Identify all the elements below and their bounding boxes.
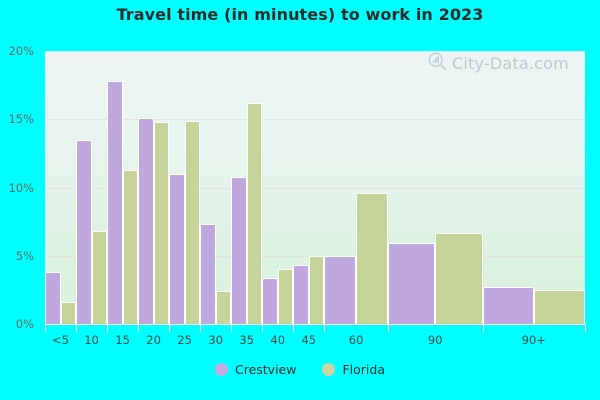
y-axis-label: 10% [8, 181, 34, 195]
x-axis-tick [388, 324, 389, 332]
bar-crestview-25 [169, 174, 185, 324]
bar-florida-60 [356, 193, 388, 324]
x-axis-label: 60 [349, 333, 364, 347]
bar-florida-90 [435, 233, 482, 324]
x-axis-tick [45, 324, 46, 332]
bar-crestview-90+ [483, 287, 534, 324]
x-axis-tick [324, 324, 325, 332]
bar-florida-15 [123, 170, 139, 324]
x-axis-line [45, 324, 586, 325]
x-axis-tick [76, 324, 77, 332]
x-axis-label: 15 [115, 333, 130, 347]
bar-florida-40 [278, 269, 294, 324]
y-axis-label: 0% [16, 317, 34, 331]
legend-label-florida: Florida [342, 362, 385, 377]
bar-crestview-60 [324, 256, 356, 324]
x-axis-tick [138, 324, 139, 332]
travel-time-bar-chart: Travel time (in minutes) to work in 2023… [0, 0, 600, 400]
bar-crestview-10 [76, 140, 92, 324]
bar-florida-25 [185, 121, 201, 324]
gridline [45, 51, 585, 52]
x-axis-tick [169, 324, 170, 332]
chart-title: Travel time (in minutes) to work in 2023 [0, 5, 600, 24]
bar-florida-<5 [61, 302, 77, 324]
gridline [45, 119, 585, 120]
bar-florida-45 [309, 256, 325, 324]
x-axis-label: 35 [239, 333, 254, 347]
x-axis-tick [107, 324, 108, 332]
x-axis-tick [262, 324, 263, 332]
x-axis-label: 90 [428, 333, 443, 347]
x-axis-label: 90+ [522, 333, 546, 347]
legend-item-florida[interactable]: Florida [322, 362, 385, 377]
x-axis-tick [200, 324, 201, 332]
legend-item-crestview[interactable]: Crestview [215, 362, 296, 377]
y-axis: 0%5%10%15%20% [0, 51, 40, 324]
bar-florida-35 [247, 103, 263, 324]
x-axis-label: 40 [270, 333, 285, 347]
bar-florida-10 [92, 231, 108, 324]
bar-florida-30 [216, 291, 232, 324]
legend-label-crestview: Crestview [235, 362, 296, 377]
bar-crestview-90 [388, 243, 435, 324]
bar-florida-20 [154, 122, 170, 324]
bar-crestview-40 [262, 278, 278, 324]
legend-swatch-florida [322, 363, 335, 376]
bar-crestview-<5 [45, 272, 61, 324]
chart-legend: CrestviewFlorida [0, 362, 600, 377]
y-axis-label: 20% [8, 44, 34, 58]
x-axis-label: 10 [84, 333, 99, 347]
bar-crestview-35 [231, 177, 247, 324]
x-axis-tick [483, 324, 484, 332]
x-axis-label: <5 [52, 333, 69, 347]
x-axis-tick [231, 324, 232, 332]
x-axis-label: 30 [208, 333, 223, 347]
x-axis-tick [585, 324, 586, 332]
plot-area [45, 51, 585, 324]
bar-crestview-30 [200, 224, 216, 324]
x-axis-tick [293, 324, 294, 332]
x-axis-label: 20 [146, 333, 161, 347]
bar-crestview-15 [107, 81, 123, 324]
bar-crestview-20 [138, 118, 154, 324]
x-axis-label: 45 [301, 333, 316, 347]
y-axis-label: 15% [8, 112, 34, 126]
y-axis-label: 5% [16, 249, 34, 263]
legend-swatch-crestview [215, 363, 228, 376]
bar-florida-90+ [534, 290, 585, 324]
bar-crestview-45 [293, 265, 309, 324]
x-axis-label: 25 [177, 333, 192, 347]
